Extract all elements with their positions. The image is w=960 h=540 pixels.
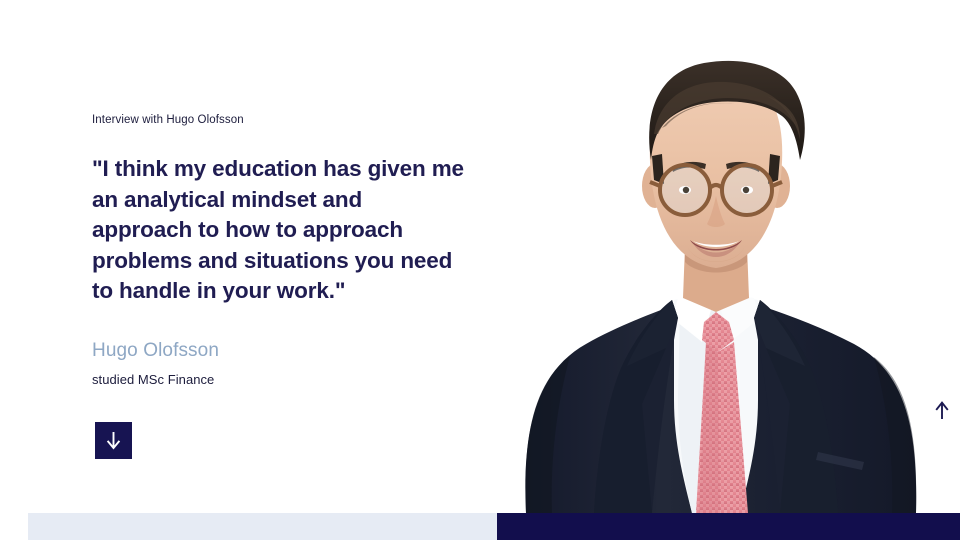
arrow-up-icon [935,401,949,420]
pull-quote: "I think my education has given me an an… [92,154,464,307]
eyebrow-label: Interview with Hugo Olofsson [92,112,472,128]
scroll-down-button[interactable] [95,422,132,459]
scroll-to-top-button[interactable] [932,399,952,421]
arrow-down-icon [106,431,121,450]
attribution: Hugo Olofsson studied MSc Finance [92,339,472,389]
hero-section: Interview with Hugo Olofsson "I think my… [0,0,960,540]
person-name: Hugo Olofsson [92,339,472,363]
hero-text-column: Interview with Hugo Olofsson "I think my… [92,112,472,389]
bottom-band-navy [497,513,960,540]
portrait-image [466,0,960,513]
person-role: studied MSc Finance [92,371,472,389]
bottom-band-light [28,513,497,540]
